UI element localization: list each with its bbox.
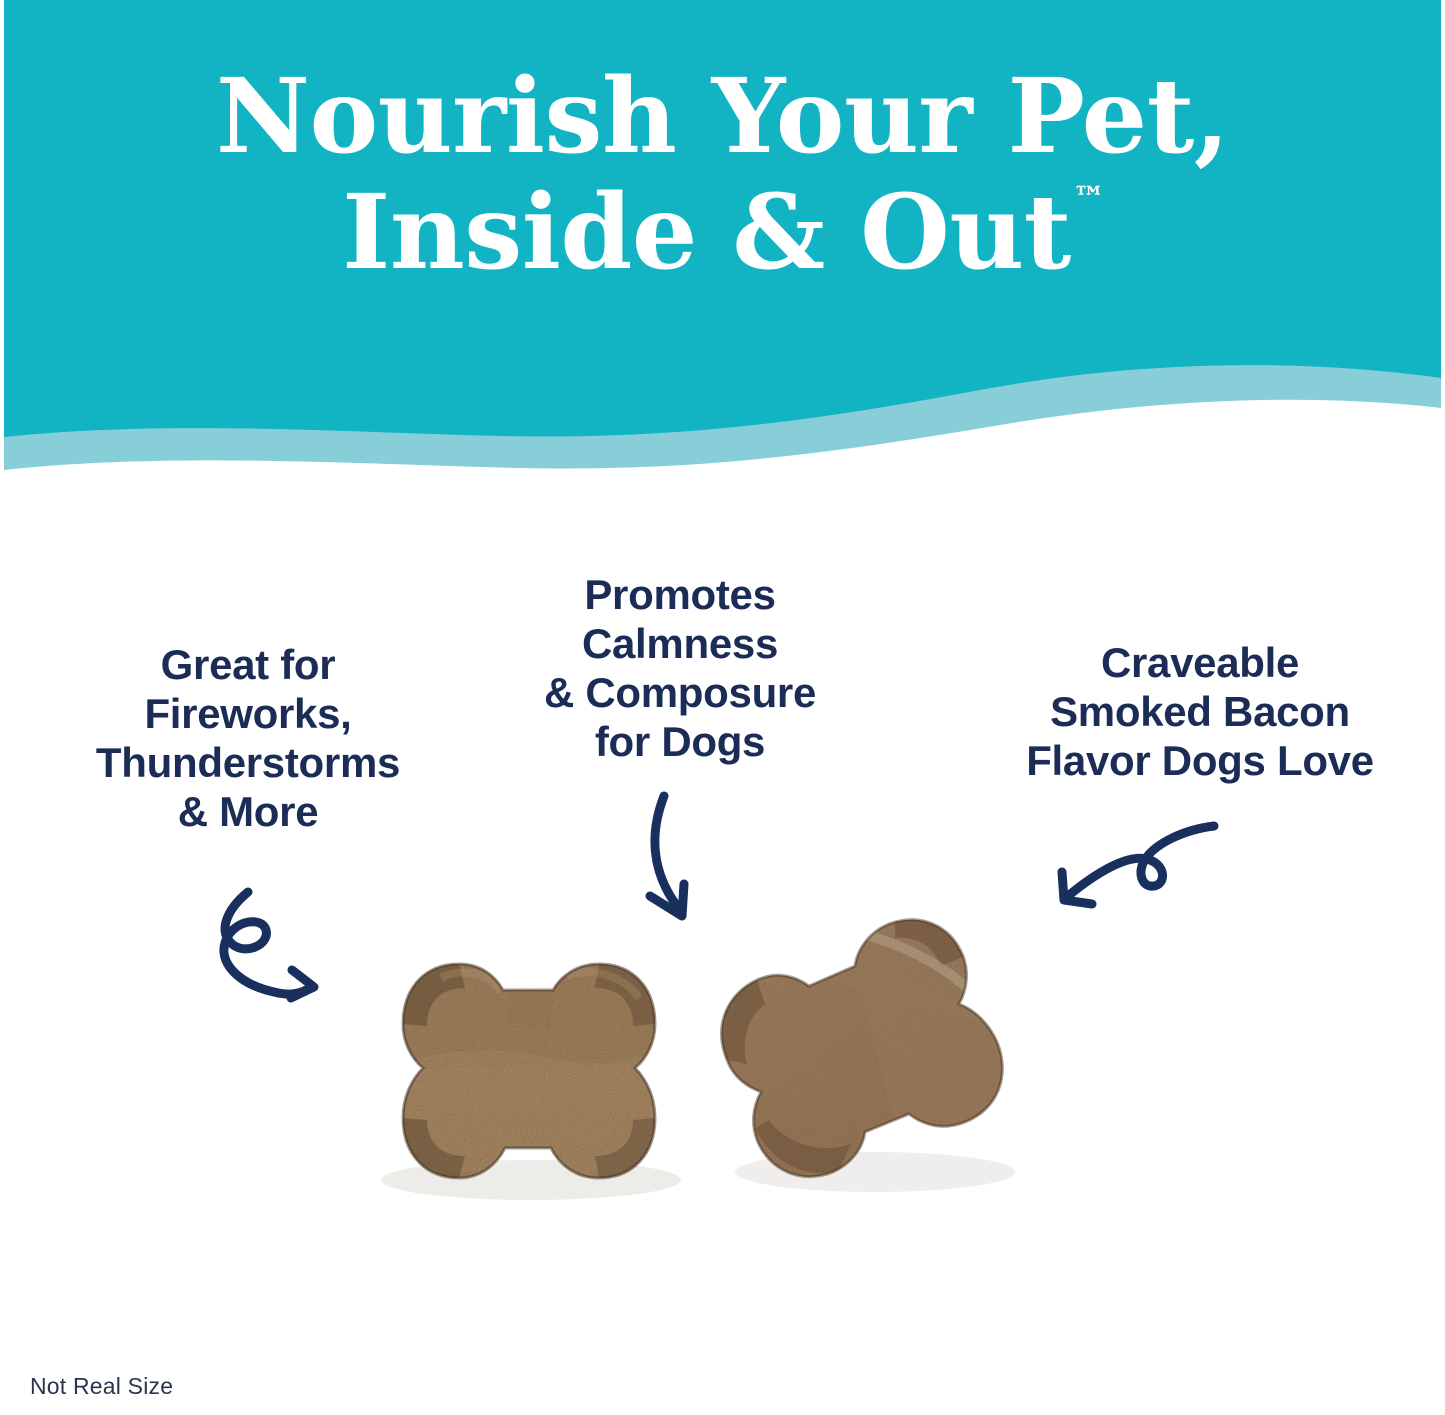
- not-real-size-footnote: Not Real Size: [30, 1373, 173, 1400]
- dog-treat-bone: [395, 953, 670, 1188]
- callout-craveable-bacon: Craveable Smoked Bacon Flavor Dogs Love: [965, 638, 1435, 785]
- callout-line: Flavor Dogs Love: [965, 736, 1435, 785]
- callout-line: Fireworks,: [18, 689, 478, 738]
- product-feature-graphic: Nourish Your Pet, Inside & Out™ Great fo…: [0, 0, 1445, 1415]
- callout-line: Promotes: [480, 570, 880, 619]
- callout-line: Thunderstorms: [18, 738, 478, 787]
- callout-line: for Dogs: [480, 717, 880, 766]
- callout-line: Craveable: [965, 638, 1435, 687]
- callout-line: & Composure: [480, 668, 880, 717]
- header-banner: Nourish Your Pet, Inside & Out™: [0, 0, 1445, 470]
- callout-great-for: Great for Fireworks, Thunderstorms & Mor…: [18, 640, 478, 837]
- callout-line: Great for: [18, 640, 478, 689]
- callout-promotes-calmness: Promotes Calmness & Composure for Dogs: [480, 570, 880, 767]
- product-treats-image: [295, 828, 1175, 1298]
- dog-bone-treats-illustration: [295, 828, 1175, 1298]
- callout-line: Calmness: [480, 619, 880, 668]
- header-wave-shape: [0, 0, 1445, 470]
- callout-line: Smoked Bacon: [965, 687, 1435, 736]
